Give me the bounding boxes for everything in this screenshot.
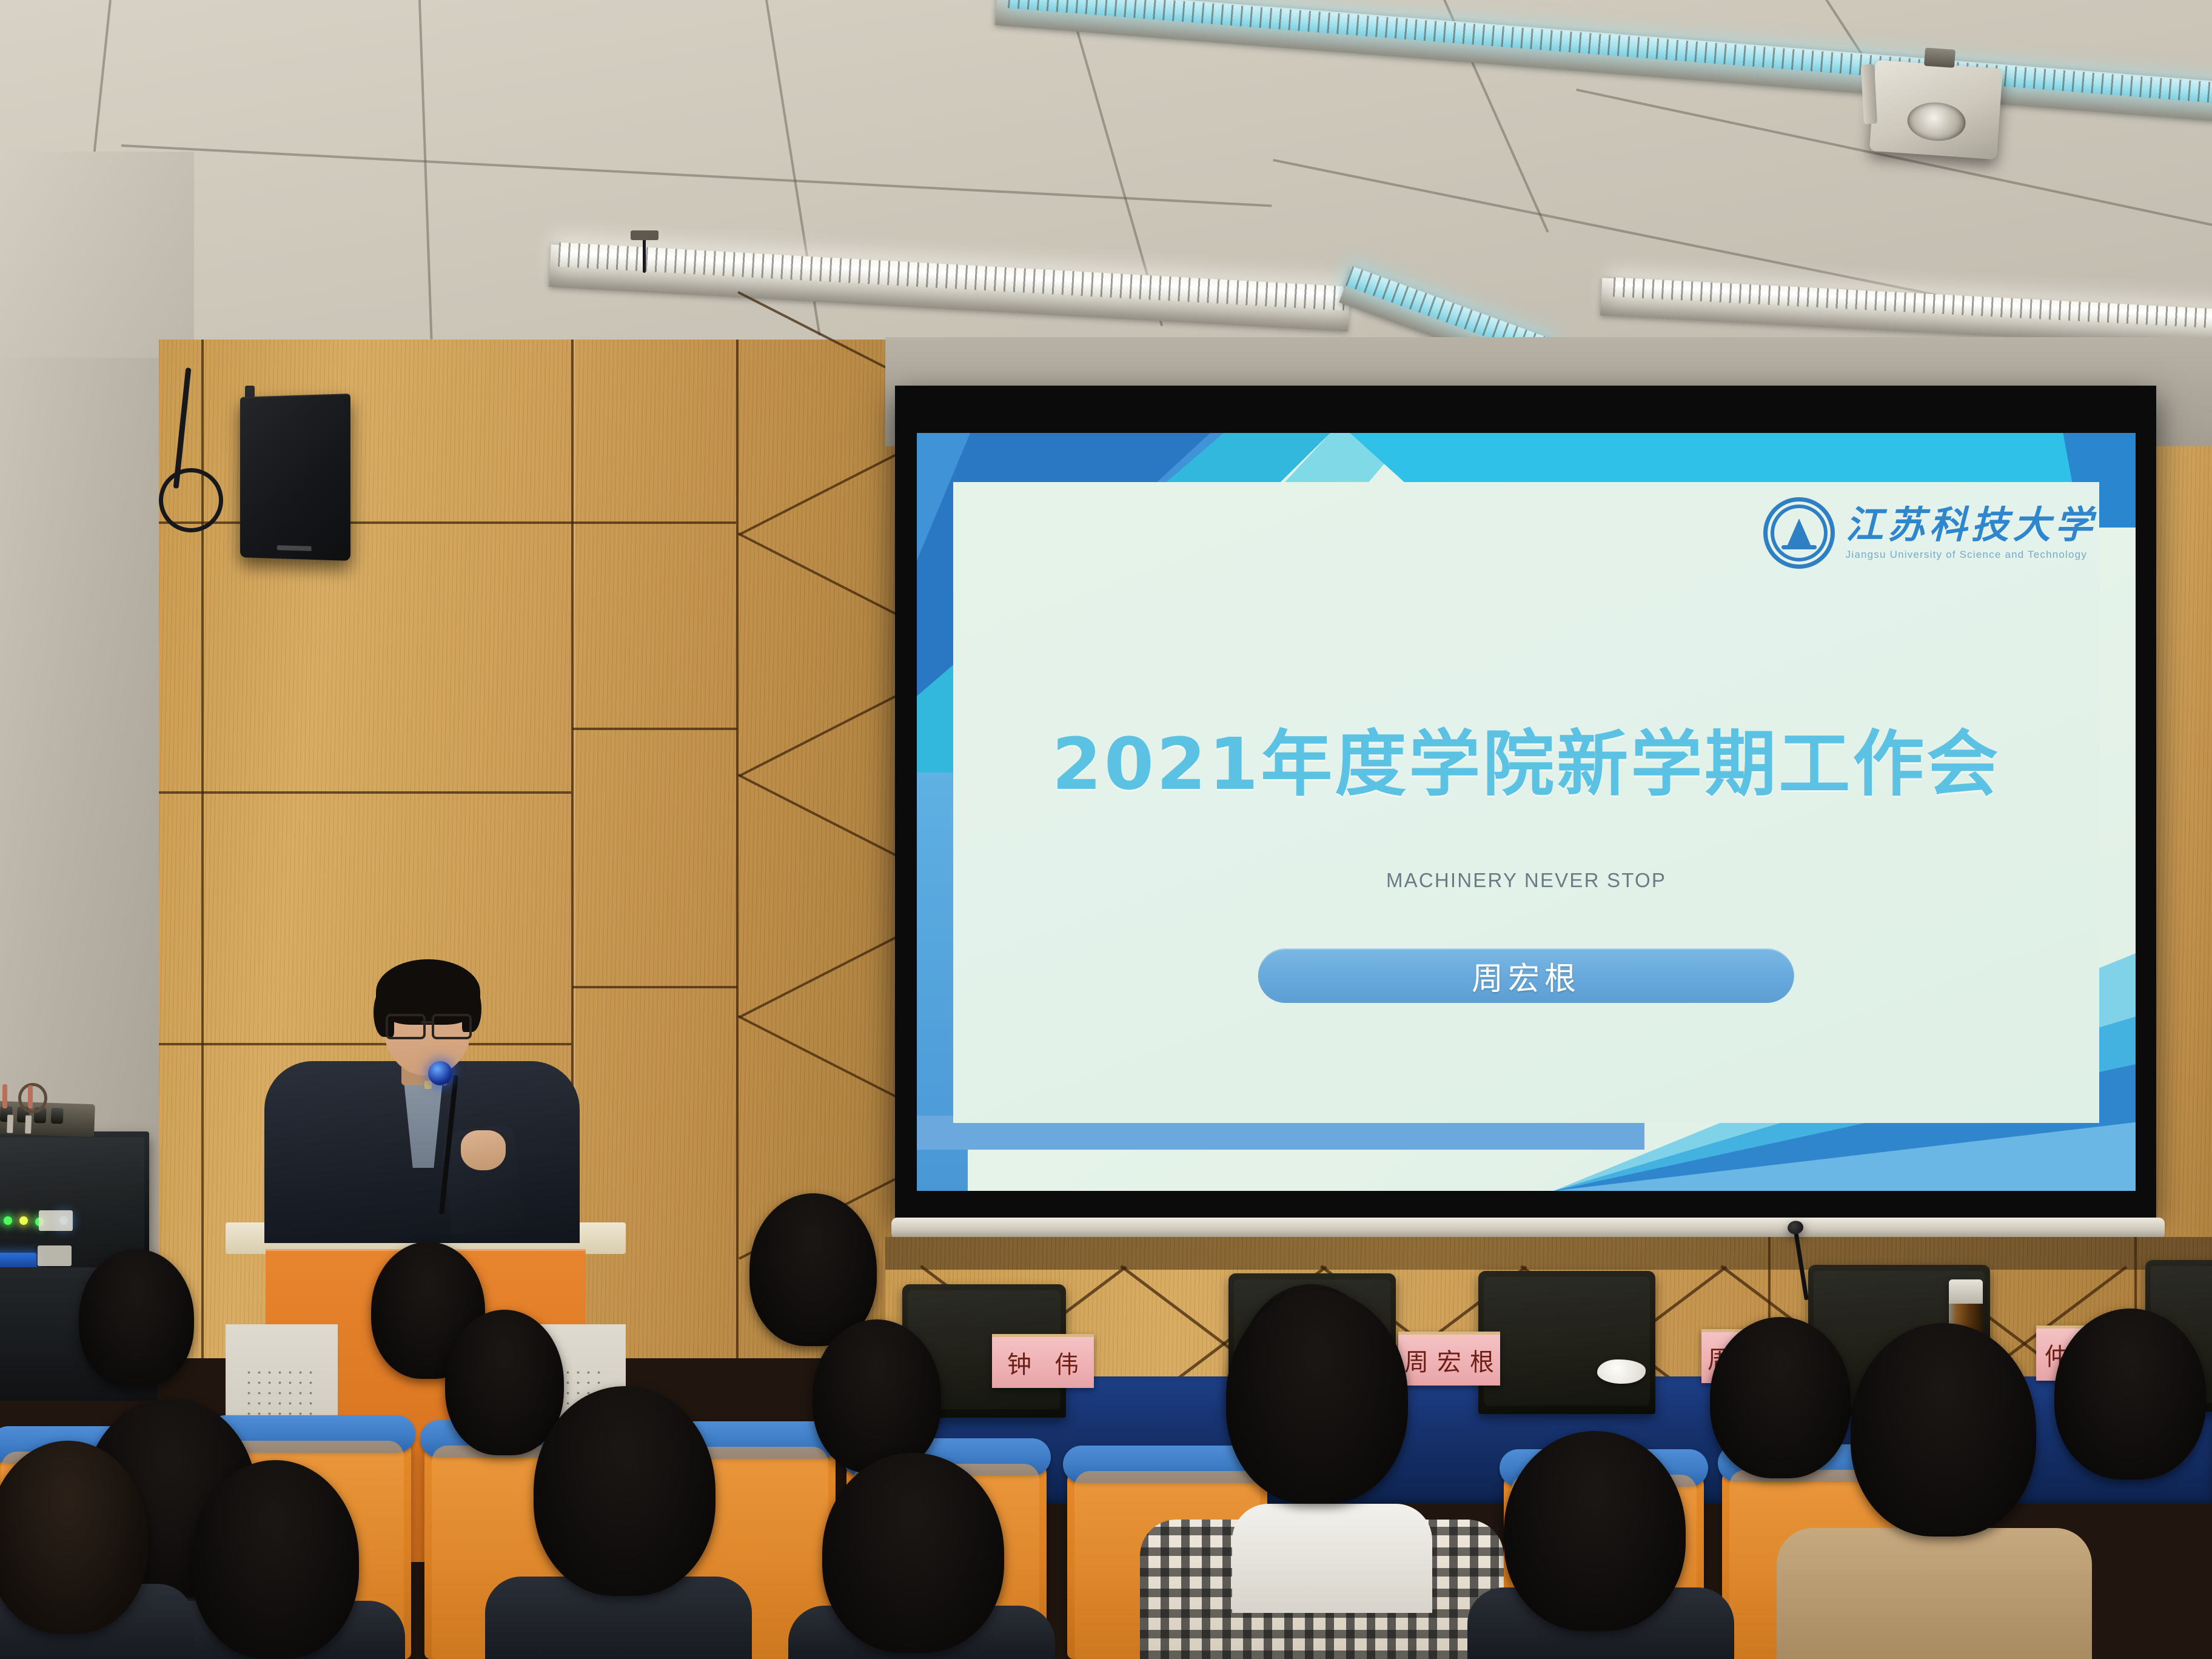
slide-subtitle: MACHINERY NEVER STOP [917,869,2136,892]
audience-head [2054,1309,2206,1480]
microphone-head-icon [428,1061,452,1085]
logo-english-name: Jiangsu University of Science and Techno… [1846,549,2097,560]
university-seal-icon [1763,497,1835,569]
presenter-hand [461,1130,506,1170]
rack-antenna-left [2,1084,7,1108]
audience-head [813,1319,941,1473]
placard-name-1: 钟 伟 [999,1345,1087,1380]
audio-mixer [0,1101,95,1138]
ceiling [0,0,2212,340]
audience-head-foreground [534,1386,716,1596]
presenter-name-pill: 周宏根 [1258,948,1794,1003]
audience-head-foreground [1504,1431,1686,1631]
presenter-glasses-right-lens [432,1014,472,1039]
audience-head-foreground [192,1460,359,1659]
presenter-name: 周宏根 [1472,953,1581,999]
audience-head-foreground [822,1453,1004,1653]
slide-title: 2021年度学院新学期工作会 [917,706,2136,809]
light-hanger-wire [643,238,646,273]
placard-name-2: 周宏根 [1396,1342,1503,1378]
audience-head-foreground [1226,1290,1408,1504]
audience-head [1710,1317,1851,1478]
name-placard-1: 钟 伟 [992,1334,1094,1388]
audience-head [79,1249,194,1387]
presenter [264,946,580,1237]
head-table-chair-3 [1478,1271,1655,1414]
audience-head-foreground [1851,1323,2036,1537]
crumpled-tissue [1597,1359,1646,1384]
upper-left-wall-return [0,152,194,358]
rack-antenna-right [28,1085,33,1108]
logo-chinese-name: 江苏科技大学 [1846,507,2097,545]
wall-speaker-icon [240,394,350,561]
presentation-slide: 江苏科技大学 Jiangsu University of Science and… [917,433,2136,1191]
screen-roller-bar [891,1218,2165,1239]
name-placard-2: 周宏根 [1398,1332,1500,1386]
lecture-hall-photo: 江苏科技大学 Jiangsu University of Science and… [0,0,2212,1659]
mixer-cable-loop [18,1083,47,1113]
audience-shoulders-white [1232,1504,1432,1613]
university-logo: 江苏科技大学 Jiangsu University of Science and… [1763,497,2097,569]
presenter-glasses-icon [386,1014,426,1039]
ceiling-projector-icon [1869,60,2003,159]
coiled-cable [159,468,223,532]
presenter-lanyard [424,1081,432,1089]
audience-head [445,1310,564,1455]
audience-shoulders-tan [1777,1528,2092,1659]
